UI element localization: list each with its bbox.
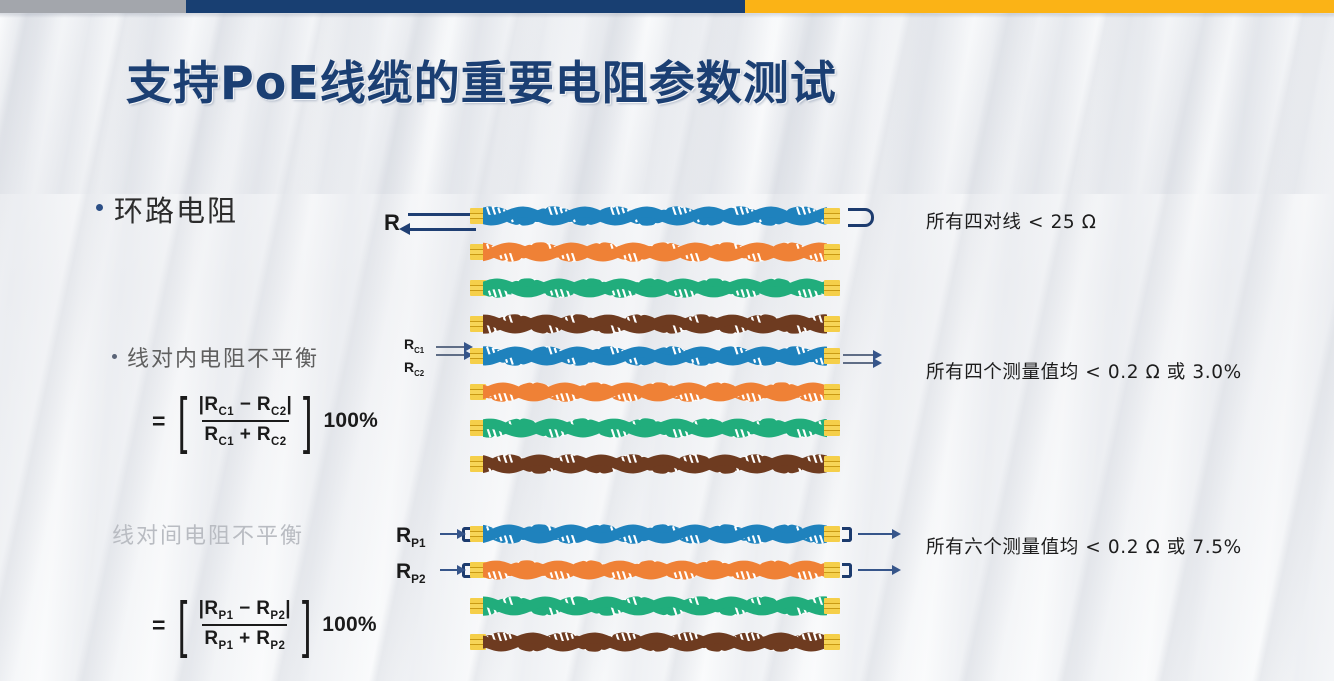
cable-twisted-body xyxy=(483,345,827,367)
label-Rc1: RC1 xyxy=(404,336,424,355)
cable-blue-pair xyxy=(470,345,840,367)
cable-twisted-body xyxy=(483,205,827,227)
formula-denominator: RP1 + RP2 xyxy=(202,624,287,654)
note-inter-pair: 所有六个测量值均 < 0.2 Ω 或 7.5% xyxy=(926,533,1242,559)
formula-percent: 100% xyxy=(323,409,378,433)
cable-pin-right xyxy=(824,280,840,296)
top-accent-bar xyxy=(0,0,1334,13)
bullet-dot-icon xyxy=(96,204,103,211)
inter-pair-entry-arrow-1 xyxy=(440,526,474,546)
cable-group-intra-pair xyxy=(470,345,840,475)
cable-twisted-body xyxy=(483,595,827,617)
formula-numerator: |RC1 − RC2| xyxy=(197,392,295,420)
cable-brown-pair xyxy=(470,453,840,475)
cable-brown-pair xyxy=(470,313,840,335)
arrow-rp1-exit-line xyxy=(858,533,896,535)
label-Rp1: RP1 xyxy=(396,524,426,550)
cable-pin-right xyxy=(824,244,840,260)
cable-twisted-body xyxy=(483,241,827,263)
cable-orange-pair xyxy=(470,381,840,403)
cable-twisted-body xyxy=(483,277,827,299)
arrow-out-line xyxy=(408,213,474,216)
arrow-return-line xyxy=(410,228,476,231)
intra-pair-exit-arrows xyxy=(843,345,903,371)
heading-intra-pair-unbalance: 线对内电阻不平衡 xyxy=(127,341,319,373)
formula-equals: = xyxy=(152,612,165,639)
formula-percent: 100% xyxy=(322,613,377,637)
bracket-right-icon: ] xyxy=(302,603,311,648)
label-R: R xyxy=(384,210,400,236)
formula-inter-pair: = [ |RP1 − RP2| RP1 + RP2 ] 100% xyxy=(152,596,377,654)
note-loop-resistance: 所有四对线 < 25 Ω xyxy=(926,208,1097,234)
cable-orange-pair xyxy=(470,241,840,263)
cable-twisted-body xyxy=(483,381,827,403)
formula-fraction: |RC1 − RC2| RC1 + RC2 xyxy=(193,392,299,450)
section-inter-pair-heading: 线对间电阻不平衡 xyxy=(112,518,304,550)
arrow-rc2-exit-line xyxy=(843,362,875,364)
cable-group-inter-pair xyxy=(470,523,840,653)
cable-pin-right xyxy=(824,634,840,650)
formula-equals: = xyxy=(152,408,165,435)
bullet-dot-icon xyxy=(112,354,117,359)
cable-pin-right xyxy=(824,316,840,332)
formula-intra-pair: = [ |RC1 − RC2| RC1 + RC2 ] 100% xyxy=(152,392,378,450)
arrow-rp2-exit-line xyxy=(858,569,896,571)
cable-twisted-body xyxy=(483,523,827,545)
cable-twisted-body xyxy=(483,453,827,475)
cable-twisted-body xyxy=(483,417,827,439)
arrow-rp2-head-icon xyxy=(457,565,466,575)
accent-segment-blue xyxy=(186,0,745,13)
cable-green-pair xyxy=(470,277,840,299)
arrow-rc2-exit-head-icon xyxy=(873,358,882,368)
arrow-return-head-icon xyxy=(399,223,410,235)
inter-pair-exit-arrow-2 xyxy=(858,562,908,582)
cable-twisted-body xyxy=(483,631,827,653)
cable-blue-pair xyxy=(470,523,840,545)
cable-pin-right xyxy=(824,348,840,364)
cable-pin-right xyxy=(824,526,840,542)
cable-pin-right xyxy=(824,384,840,400)
cable-pin-right xyxy=(824,562,840,578)
cable-orange-pair xyxy=(470,559,840,581)
cable-pin-right xyxy=(824,598,840,614)
cable-twisted-body xyxy=(483,313,827,335)
top-accent-bar-shadow xyxy=(0,13,1334,18)
terminal-right-rp2-icon xyxy=(842,563,852,578)
cable-pin-right xyxy=(824,208,840,224)
slide-title: 支持PoE线缆的重要电阻参数测试 xyxy=(126,47,837,113)
cable-twisted-body xyxy=(483,559,827,581)
loop-resistance-measure-arrows: R xyxy=(384,206,454,242)
note-intra-pair: 所有四个测量值均 < 0.2 Ω 或 3.0% xyxy=(926,358,1242,384)
inter-pair-exit-arrow-1 xyxy=(858,526,908,546)
formula-denominator: RC1 + RC2 xyxy=(202,420,288,450)
cable-green-pair xyxy=(470,595,840,617)
label-Rp2: RP2 xyxy=(396,560,426,586)
loopback-connector-icon xyxy=(848,208,874,227)
section-loop-resistance-heading: 环路电阻 xyxy=(96,188,238,230)
accent-segment-yellow xyxy=(745,0,1334,13)
bracket-left-icon: [ xyxy=(178,399,187,444)
cable-group-loop-resistance xyxy=(470,205,840,335)
label-Rc2: RC2 xyxy=(404,359,424,378)
cable-green-pair xyxy=(470,417,840,439)
terminal-right-rp1-icon xyxy=(842,527,852,542)
cable-pin-right xyxy=(824,456,840,472)
arrow-rp1-exit-head-icon xyxy=(892,529,901,539)
accent-segment-gray xyxy=(0,0,186,13)
arrow-rc1-exit-line xyxy=(843,354,875,356)
formula-fraction: |RP1 − RP2| RP1 + RP2 xyxy=(193,596,297,654)
bracket-right-icon: ] xyxy=(303,399,312,444)
inter-pair-entry-arrow-2 xyxy=(440,562,474,582)
section-intra-pair-heading: 线对内电阻不平衡 xyxy=(112,341,319,373)
heading-inter-pair-unbalance: 线对间电阻不平衡 xyxy=(112,518,304,550)
bracket-left-icon: [ xyxy=(178,603,187,648)
cable-blue-pair xyxy=(470,205,840,227)
slide-canvas: 支持PoE线缆的重要电阻参数测试 环路电阻 R 所有四对线 < 25 Ω 线对内… xyxy=(0,0,1334,681)
arrow-rp2-exit-head-icon xyxy=(892,565,901,575)
arrow-rp1-head-icon xyxy=(457,529,466,539)
heading-loop-resistance: 环路电阻 xyxy=(114,188,238,230)
formula-numerator: |RP1 − RP2| xyxy=(197,596,293,624)
cable-pin-right xyxy=(824,420,840,436)
cable-brown-pair xyxy=(470,631,840,653)
